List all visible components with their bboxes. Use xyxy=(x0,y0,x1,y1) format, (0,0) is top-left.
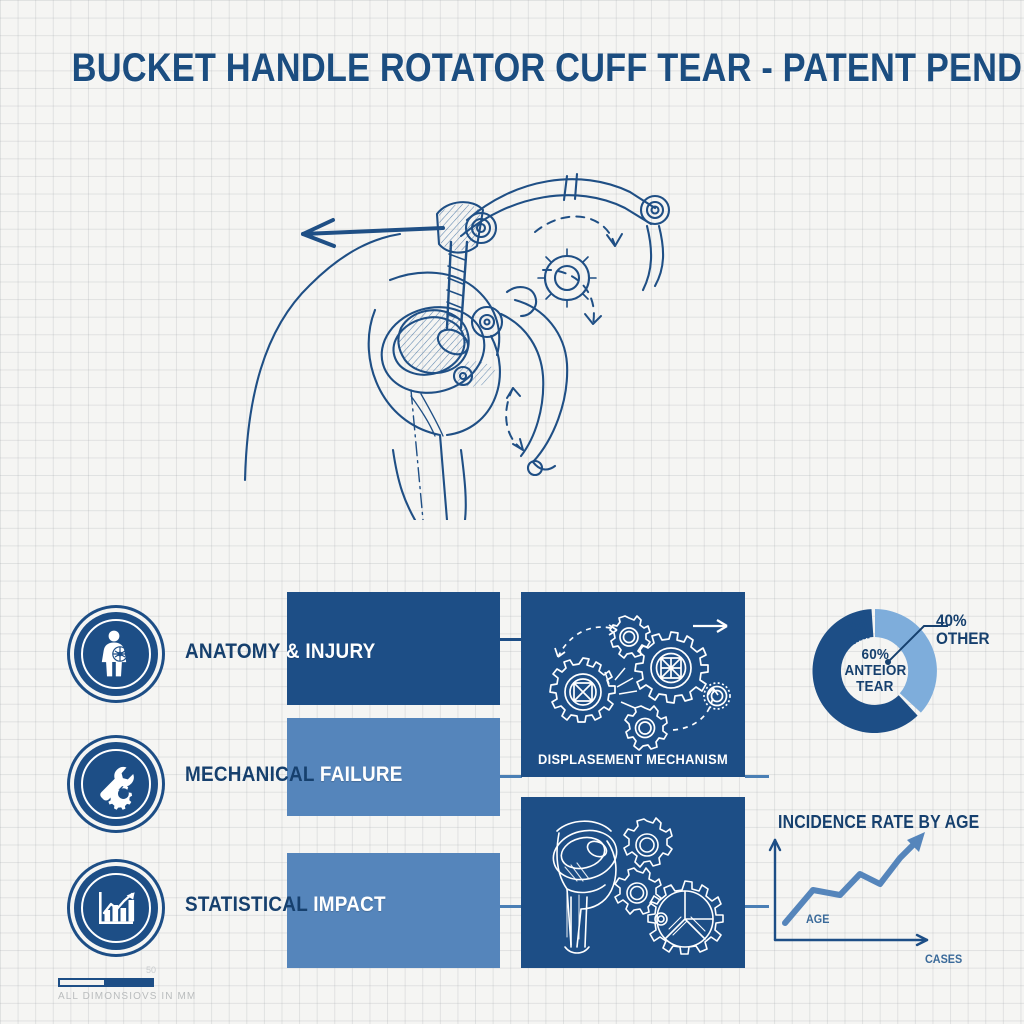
anatomy-gear-illustration xyxy=(521,797,745,968)
gear-mechanism-panel[interactable]: DISPLASEMENT MECHANISM xyxy=(521,592,745,777)
row-label-outside: ANATOMY xyxy=(185,640,280,663)
connector-panel-to-linechart-top xyxy=(745,775,769,778)
infographic-page: BUCKET HANDLE ROTATOR CUFF TEAR - PATENT… xyxy=(0,0,1024,1024)
linechart-series-label: AGE xyxy=(806,912,829,926)
scale-bar: 50 xyxy=(58,978,154,987)
panel-caption-displacement: DISPLASEMENT MECHANISM xyxy=(530,751,736,767)
page-title: BUCKET HANDLE ROTATOR CUFF TEAR - PATENT… xyxy=(72,46,953,91)
connector-row-2 xyxy=(500,775,522,778)
sidebar-item-anatomy[interactable]: ANATOMY & INJURY xyxy=(185,640,376,664)
scale-bar-fill xyxy=(60,980,104,985)
scale-bar-group: 50 ALL DIMONSIOVS IN MM xyxy=(58,978,196,1002)
donut-callout-other: 40% OTHER xyxy=(936,612,990,648)
donut-callout-percent: 40% xyxy=(936,612,990,630)
sidebar-item-statistical[interactable]: STATISTICAL IMPACT xyxy=(185,893,386,917)
donut-callout-name: OTHER xyxy=(936,630,990,648)
row-label-over: & INJURY xyxy=(286,640,376,663)
connector-row-1 xyxy=(500,638,522,641)
connector-row-3 xyxy=(500,905,522,908)
linechart-xaxis-label: CASES xyxy=(925,952,962,966)
row-label-over: IMPACT xyxy=(313,893,386,916)
gear-mechanism-illustration xyxy=(521,592,745,777)
bar-chart-trend-icon[interactable] xyxy=(74,866,158,950)
shoulder-joint-blueprint xyxy=(215,150,715,520)
human-body-icon[interactable] xyxy=(74,612,158,696)
wrench-gear-glyph xyxy=(90,758,142,810)
row-label-outside: STATISTICAL xyxy=(185,893,308,916)
sidebar-item-mechanical[interactable]: MECHANICAL FAILURE xyxy=(185,763,403,787)
anatomy-gear-panel[interactable] xyxy=(521,797,745,968)
wrench-gear-icon[interactable] xyxy=(74,742,158,826)
bar-chart-trend-glyph xyxy=(90,882,142,934)
incidence-rate-line-chart[interactable] xyxy=(765,808,965,958)
scale-bar-tick-label: 50 xyxy=(146,965,156,975)
row-label-over: FAILURE xyxy=(320,763,403,786)
row-label-outside: MECHANICAL xyxy=(185,763,314,786)
human-body-glyph xyxy=(90,628,142,680)
scale-bar-caption: ALL DIMONSIOVS IN MM xyxy=(58,991,196,1002)
